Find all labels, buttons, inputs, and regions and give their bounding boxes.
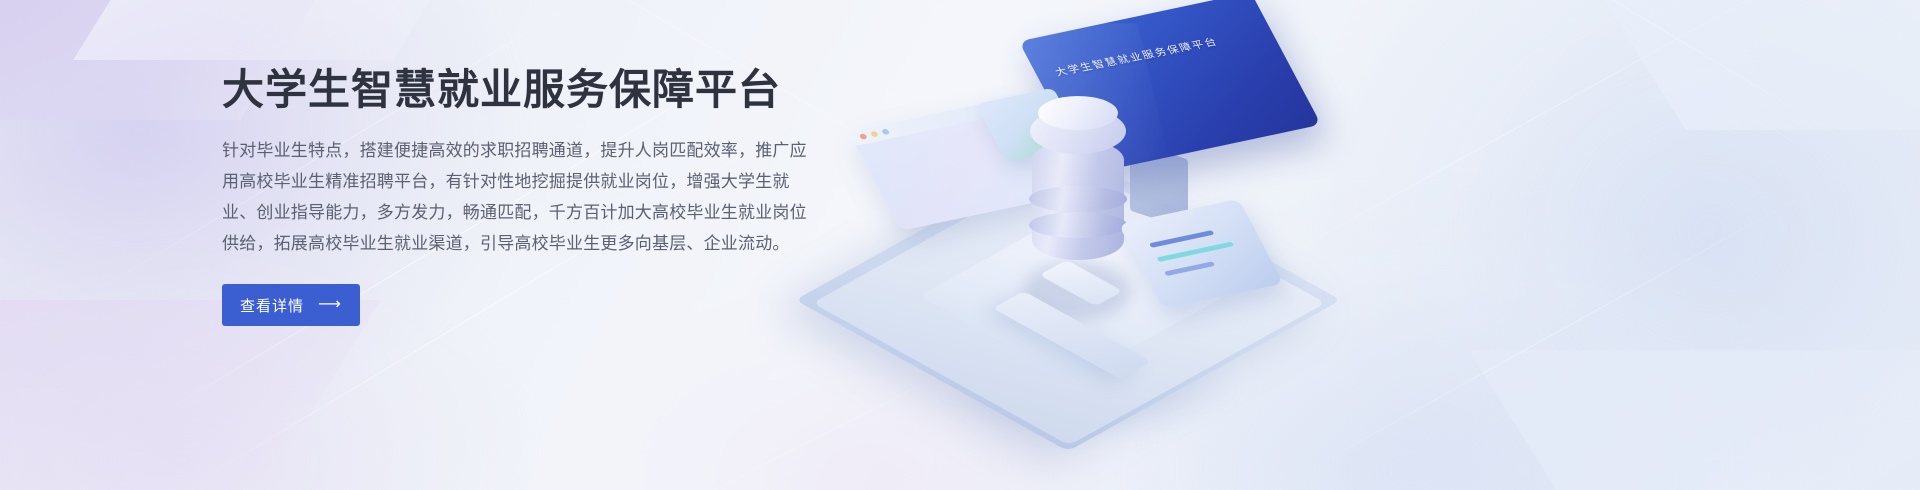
message-line-1 bbox=[1149, 230, 1214, 248]
background-plate-bottom-left bbox=[0, 300, 381, 490]
message-line-3 bbox=[1164, 261, 1215, 276]
banner-content: 大学生智慧就业服务保障平台 针对毕业生特点，搭建便捷高效的求职招聘通道，提升人岗… bbox=[222, 66, 872, 326]
view-details-button[interactable]: 查看详情 ⟶ bbox=[222, 284, 360, 326]
background-plate-top-right bbox=[1554, 0, 1920, 130]
description-line-3: 业、创业指导能力，多方发力，畅通匹配，千方百计加大高校毕业生就业岗位 bbox=[222, 197, 848, 228]
window-maximize-dot-icon bbox=[881, 128, 890, 135]
cylinder-band-1 bbox=[1029, 186, 1127, 212]
background-plate-bottom-right bbox=[1469, 350, 1920, 490]
message-line-2 bbox=[1156, 242, 1234, 262]
description-line-4: 供给，拓展高校毕业生就业渠道，引导高校毕业生更多向基层、企业流动。 bbox=[222, 228, 848, 259]
arrow-right-icon: ⟶ bbox=[318, 297, 342, 313]
view-details-label: 查看详情 bbox=[240, 295, 304, 316]
hero-illustration: 大学生智慧就业服务保障平台 bbox=[880, 0, 1420, 490]
description-line-1: 针对毕业生特点，搭建便捷高效的求职招聘通道，提升人岗匹配效率，推广应 bbox=[222, 135, 848, 166]
description-line-2: 用高校毕业生精准招聘平台，有针对性地挖掘提供就业岗位，增强大学生就 bbox=[222, 166, 848, 197]
cylinder-cap bbox=[1038, 96, 1118, 130]
monitor-screen-text: 大学生智慧就业服务保障平台 bbox=[1052, 28, 1254, 80]
page-title: 大学生智慧就业服务保障平台 bbox=[222, 66, 872, 113]
banner-description: 针对毕业生特点，搭建便捷高效的求职招聘通道，提升人岗匹配效率，推广应 用高校毕业… bbox=[222, 135, 848, 259]
background-plate-top-left-2 bbox=[73, 0, 487, 60]
cylinder-band-2 bbox=[1029, 212, 1127, 238]
hero-banner: 大学生智慧就业服务保障平台 针对毕业生特点，搭建便捷高效的求职招聘通道，提升人岗… bbox=[0, 0, 1920, 490]
